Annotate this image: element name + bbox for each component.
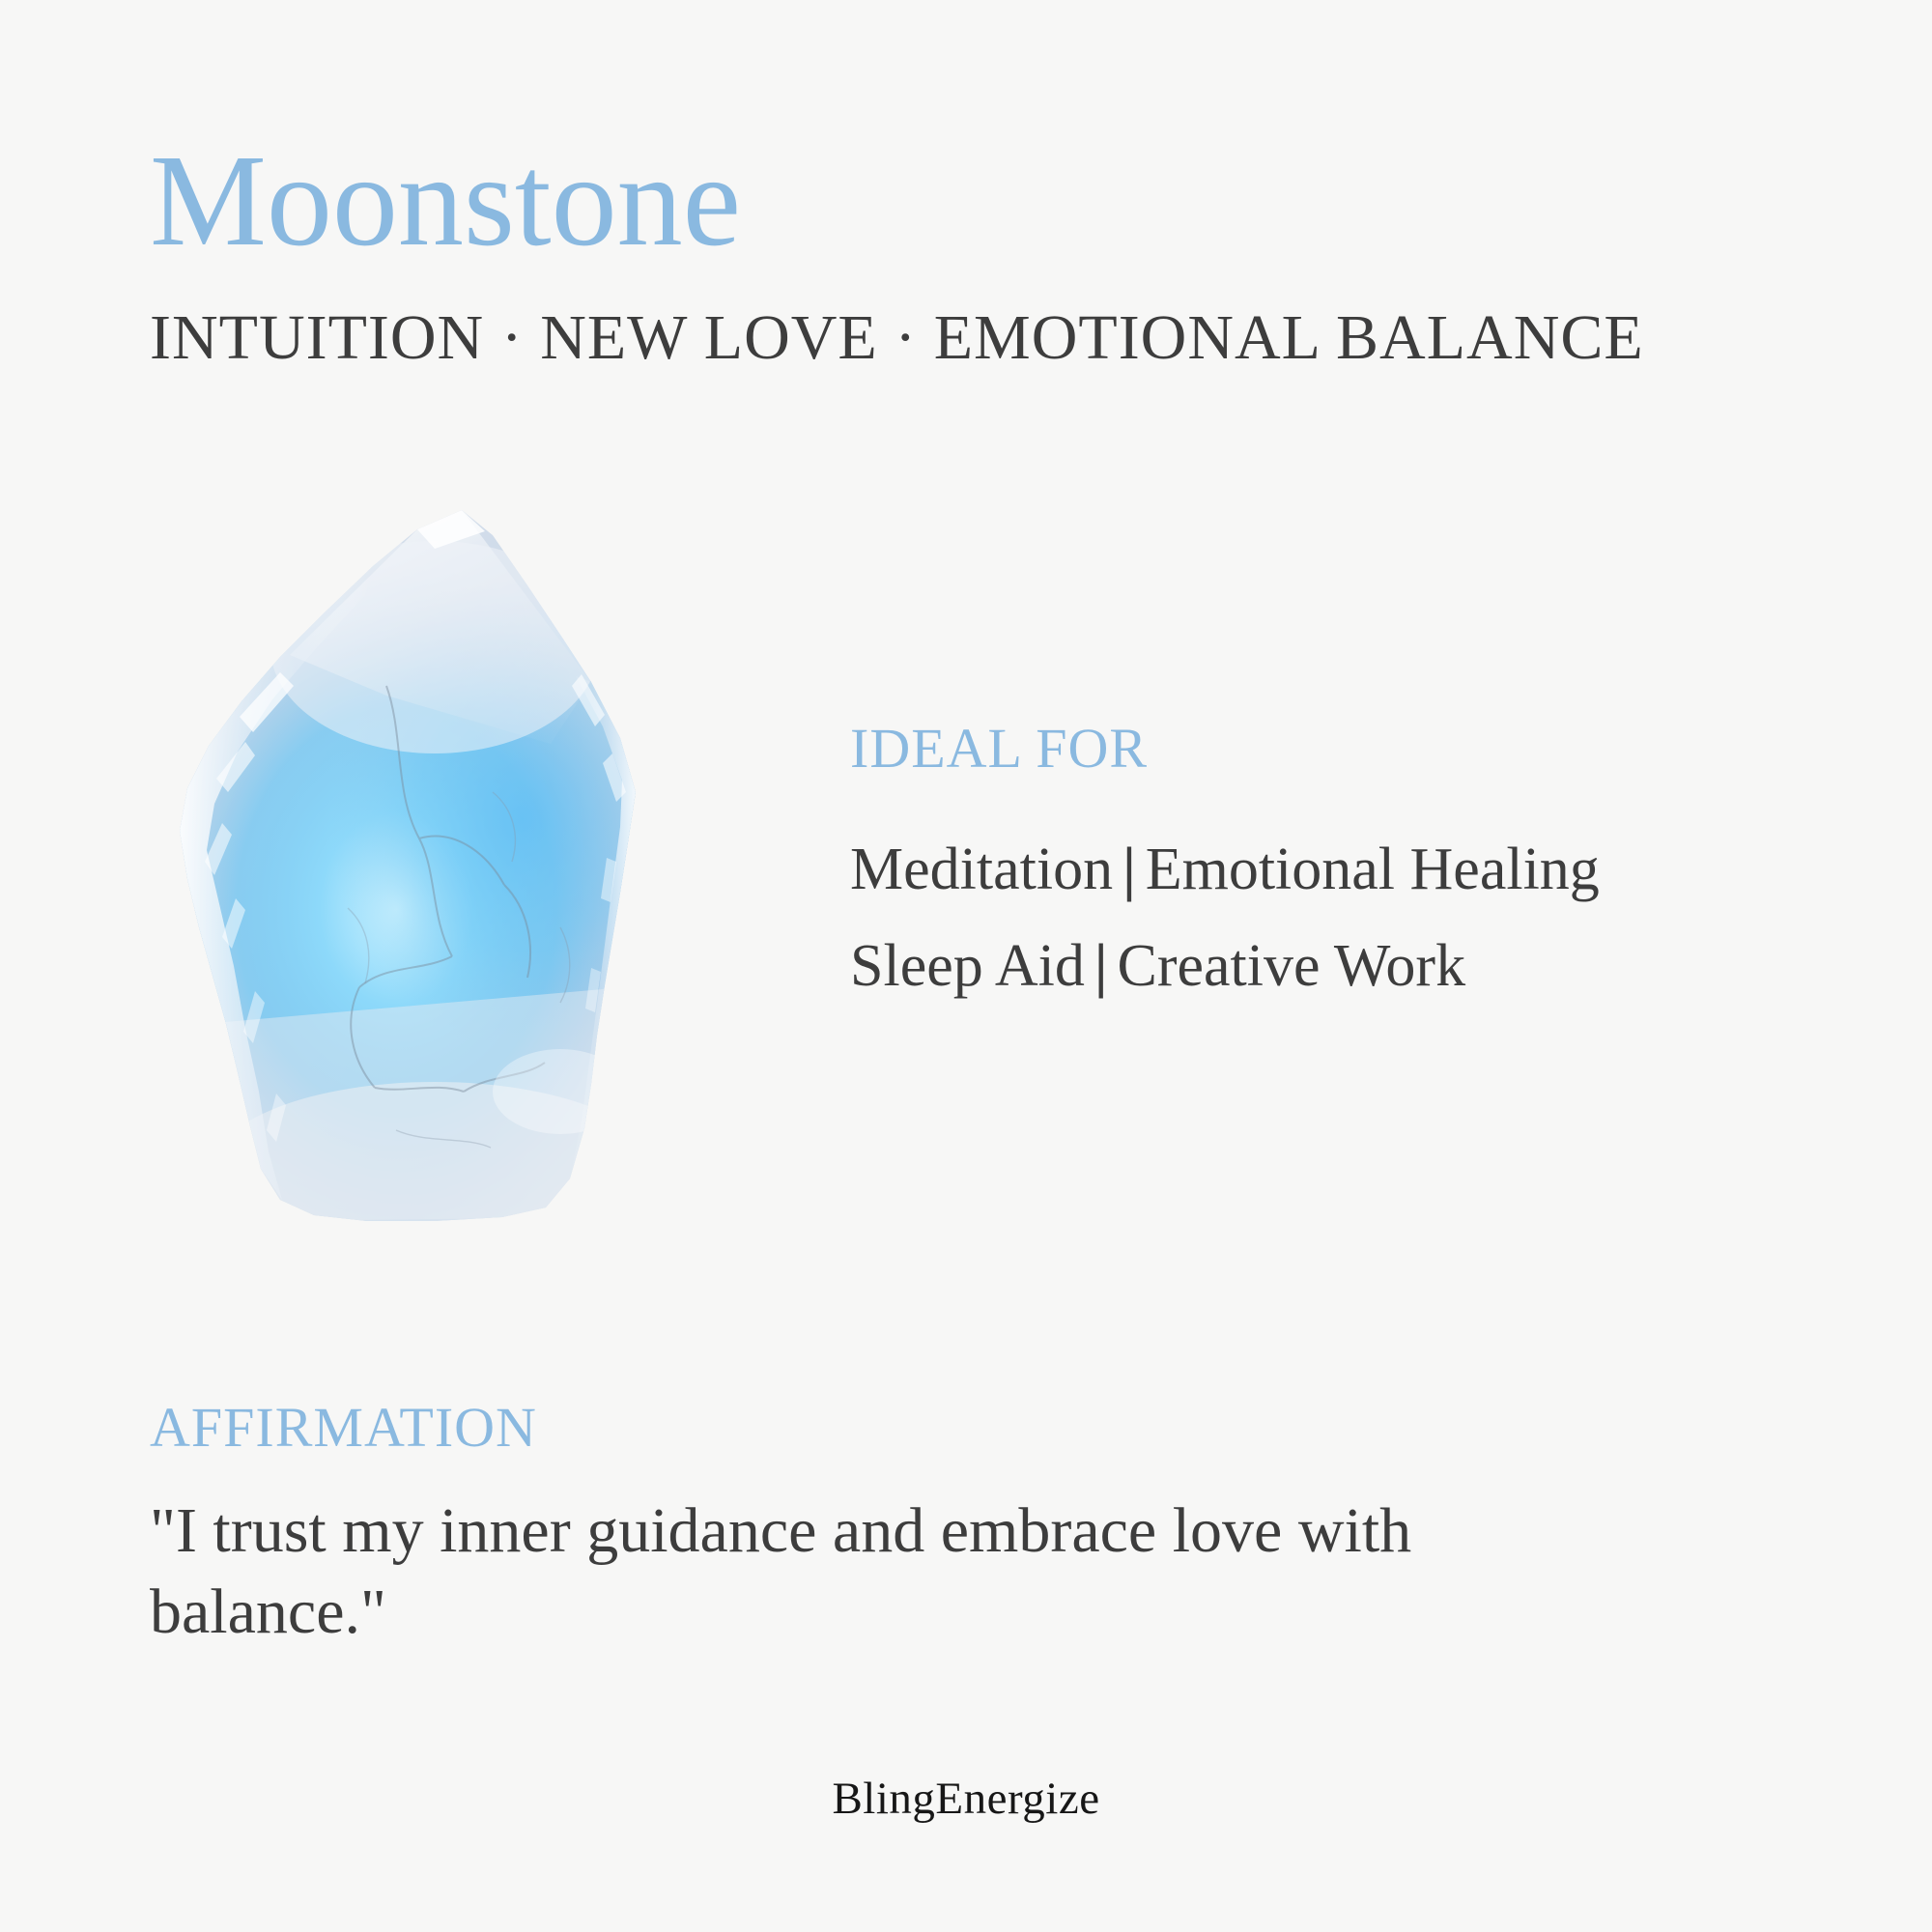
ideal-item-creative-work: Creative Work (1117, 933, 1465, 999)
list-item: Meditation|Emotional Healing (850, 821, 1826, 918)
affirmation-label: AFFIRMATION (150, 1399, 1628, 1458)
affirmation-section: AFFIRMATION "I trust my inner guidance a… (150, 1399, 1628, 1653)
crystal-info-card: Moonstone INTUITION · NEW LOVE · EMOTION… (0, 0, 1932, 1932)
ideal-item-sleep-aid: Sleep Aid (850, 933, 1085, 999)
page-title: Moonstone (150, 135, 1811, 267)
keyword-subtitle: INTUITION · NEW LOVE · EMOTIONAL BALANCE (150, 267, 1811, 374)
moonstone-crystal-icon (145, 502, 744, 1256)
list-item: Sleep Aid|Creative Work (850, 918, 1826, 1014)
ideal-item-meditation: Meditation (850, 837, 1113, 902)
brand-name: BlingEnergize (0, 1773, 1932, 1825)
affirmation-text: "I trust my inner guidance and embrace l… (150, 1458, 1628, 1653)
ideal-item-emotional-healing: Emotional Healing (1146, 837, 1600, 902)
ideal-for-list: Meditation|Emotional Healing Sleep Aid|C… (850, 779, 1826, 1015)
ideal-for-section: IDEAL FOR Meditation|Emotional Healing S… (850, 720, 1826, 1015)
item-separator: | (1085, 933, 1118, 999)
ideal-for-label: IDEAL FOR (850, 720, 1826, 779)
header: Moonstone INTUITION · NEW LOVE · EMOTION… (150, 135, 1811, 374)
crystal-image (145, 502, 744, 1256)
item-separator: | (1113, 837, 1146, 902)
